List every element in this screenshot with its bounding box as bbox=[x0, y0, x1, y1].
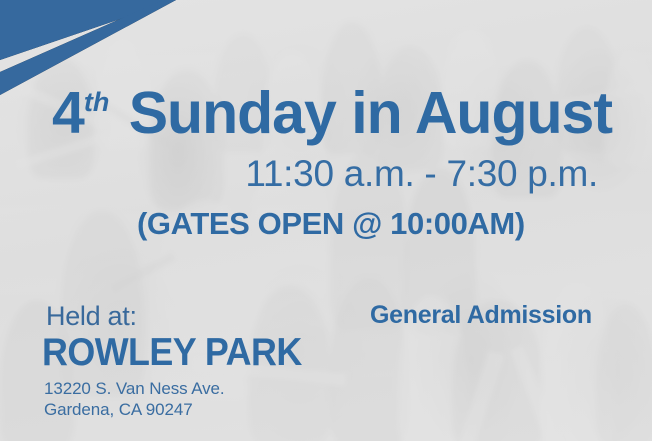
headline-rest: Sunday in August bbox=[113, 80, 612, 146]
venue-address: 13220 S. Van Ness Ave. Gardena, CA 90247 bbox=[44, 378, 225, 421]
headline-ordinal: th bbox=[84, 87, 109, 117]
address-line-1: 13220 S. Van Ness Ave. bbox=[44, 378, 225, 399]
admission-label: General Admission bbox=[370, 303, 592, 328]
headline-number: 4 bbox=[52, 80, 84, 146]
gates-open-note: (GATES OPEN @ 10:00AM) bbox=[137, 208, 525, 239]
address-line-2: Gardena, CA 90247 bbox=[44, 399, 225, 420]
flyer-text-content: 4th Sunday in August 11:30 a.m. - 7:30 p… bbox=[0, 0, 652, 441]
venue-name: ROWLEY PARK bbox=[42, 333, 302, 372]
event-flyer: 4th Sunday in August 11:30 a.m. - 7:30 p… bbox=[0, 0, 652, 441]
event-times: 11:30 a.m. - 7:30 p.m. bbox=[245, 155, 598, 192]
held-at-label: Held at: bbox=[46, 303, 137, 330]
headline: 4th Sunday in August bbox=[52, 84, 612, 143]
